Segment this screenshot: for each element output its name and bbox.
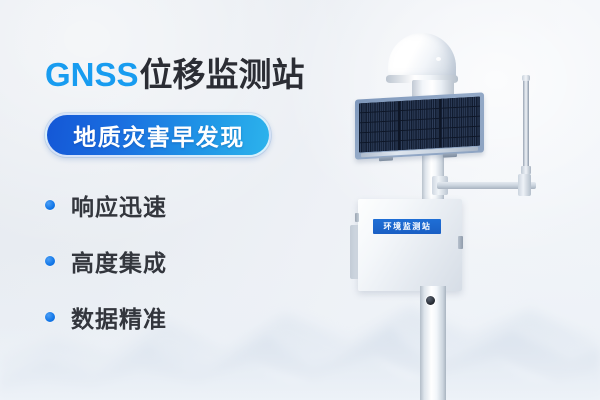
bullet-dot-icon [45, 200, 55, 210]
enclosure-latch [458, 236, 463, 249]
mounting-arm-end-bracket [518, 174, 531, 196]
page-title: GNSS位移监测站 [45, 55, 305, 95]
solar-cell [441, 127, 480, 138]
solar-panel-icon [355, 92, 484, 159]
equipment-enclosure [358, 199, 462, 291]
feature-label: 高度集成 [71, 244, 167, 278]
dome-antenna-icon [388, 33, 456, 81]
solar-cell [400, 99, 439, 110]
solar-cell [359, 121, 398, 132]
bullet-dot-icon [45, 256, 55, 266]
sensor-port-icon [426, 296, 435, 305]
list-item: 数据精准 [45, 295, 275, 339]
solar-cell [359, 101, 398, 112]
solar-cell [400, 119, 439, 130]
tagline-badge: 地质灾害早发现 [45, 113, 271, 157]
dome-antenna-highlight [400, 38, 424, 54]
feature-label: 数据精准 [71, 300, 167, 334]
solar-cell [400, 129, 439, 140]
solar-cell [441, 107, 480, 118]
enclosure-label-text: 环境监测站 [383, 223, 432, 231]
bullet-dot-icon [45, 312, 55, 322]
whip-antenna-collar-icon [521, 166, 531, 174]
list-item: 响应迅速 [45, 183, 275, 227]
solar-panel-cells [359, 97, 480, 153]
solar-cell [359, 111, 398, 122]
tagline-badge-label: 地质灾害早发现 [71, 118, 245, 152]
gnss-station-illustration: 环境监测站 [340, 0, 600, 400]
feature-list: 响应迅速 高度集成 数据精准 [45, 183, 275, 351]
enclosure-label-plate: 环境监测站 [373, 219, 441, 234]
solar-cell [441, 117, 480, 128]
title-rest: 位移监测站 [140, 56, 305, 93]
solar-cell [359, 131, 398, 142]
dome-antenna-specular [436, 57, 441, 61]
solar-panel-foot [443, 153, 457, 158]
banner-canvas: 环境监测站 GNSS位移监测站 地质灾害早发现 响应迅速 高度集成 数据精准 [0, 0, 600, 400]
whip-antenna-tip-icon [522, 75, 530, 81]
feature-label: 响应迅速 [71, 188, 167, 222]
title-brand: GNSS [45, 56, 139, 93]
list-item: 高度集成 [45, 239, 275, 283]
solar-cell [441, 97, 480, 108]
solar-cell [400, 109, 439, 120]
solar-panel-foot [379, 156, 393, 161]
enclosure-hinge [355, 213, 359, 222]
